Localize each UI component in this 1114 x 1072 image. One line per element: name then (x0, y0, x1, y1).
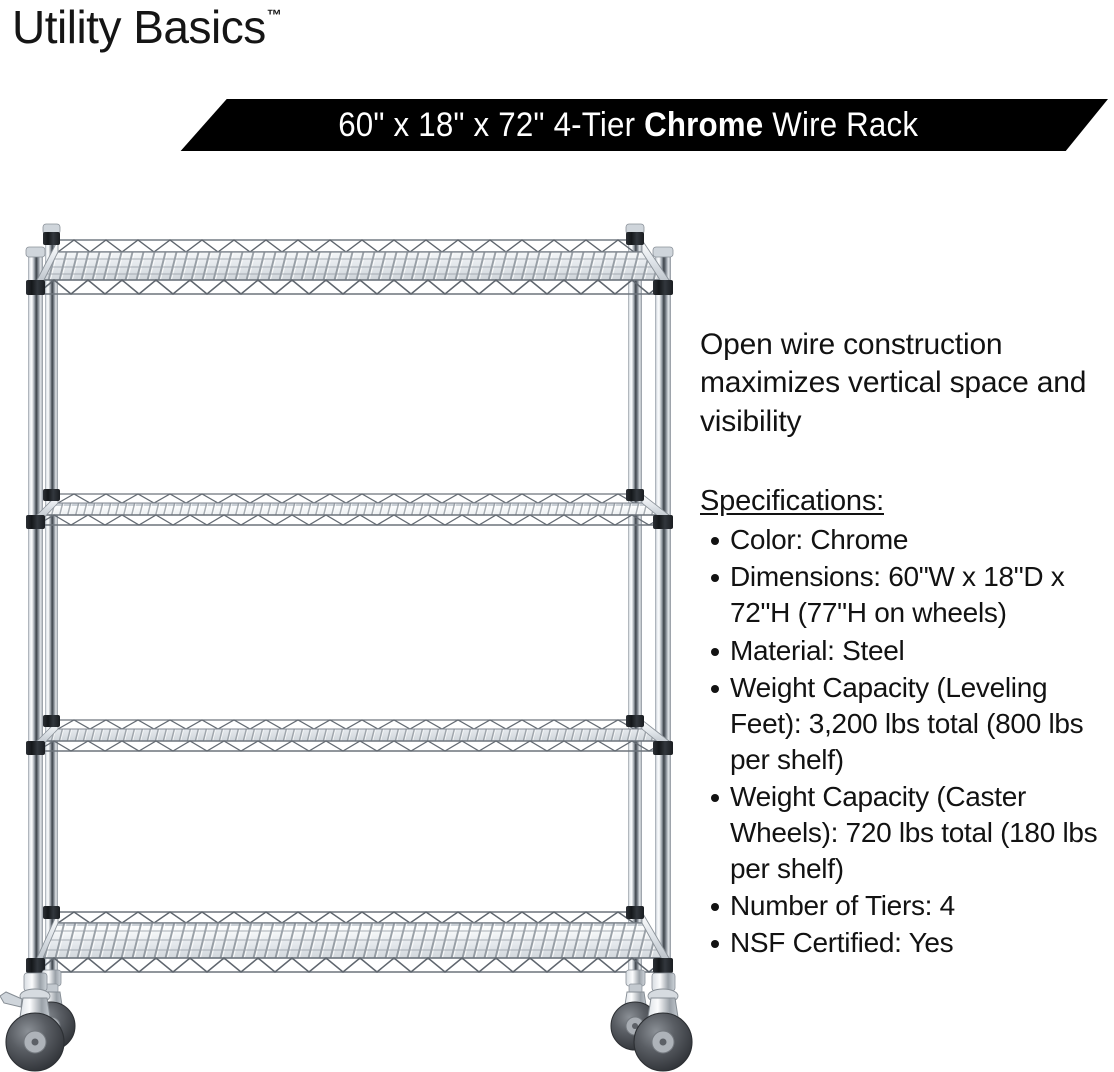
shelf-tier-2 (26, 489, 673, 529)
title-suffix: Wire Rack (763, 106, 918, 144)
shelf-tier-1 (26, 232, 673, 295)
wire-rack-illustration (0, 206, 700, 1072)
spec-item: Number of Tiers: 4 (730, 888, 1108, 924)
title-emphasis: Chrome (644, 106, 763, 144)
trademark-symbol: ™ (267, 8, 283, 23)
rear-posts (43, 224, 644, 970)
specifications-list: Color: Chrome Dimensions: 60"W x 18"D x … (700, 522, 1108, 961)
spec-item: NSF Certified: Yes (730, 925, 1108, 961)
shelf-tier-3 (26, 715, 673, 755)
spec-item: Material: Steel (730, 633, 1108, 669)
caster-front-right (634, 973, 692, 1071)
spec-item: Weight Capacity (Leveling Feet): 3,200 l… (730, 670, 1108, 778)
brand-logo: Utility Basics ™ (12, 4, 282, 50)
spec-item: Weight Capacity (Caster Wheels): 720 lbs… (730, 779, 1108, 887)
headline-text: Open wire construction maximizes vertica… (700, 326, 1108, 441)
spec-item: Dimensions: 60"W x 18"D x 72"H (77"H on … (730, 559, 1108, 631)
spec-item: Color: Chrome (730, 522, 1108, 558)
brand-name: Utility Basics (12, 4, 266, 50)
specifications-heading: Specifications: (700, 485, 884, 518)
title-prefix: 60" x 18" x 72" 4-Tier (338, 106, 644, 144)
front-posts (26, 247, 673, 988)
brake-lever-icon (0, 992, 22, 1007)
title-banner-text: 60" x 18" x 72" 4-Tier Chrome Wire Rack (338, 106, 918, 145)
product-image (0, 206, 700, 1072)
infographic-page: Utility Basics ™ 60" x 18" x 72" 4-Tier … (0, 0, 1114, 1072)
shelf-tier-4 (26, 906, 673, 973)
copy-column: Open wire construction maximizes vertica… (700, 326, 1108, 962)
title-banner: 60" x 18" x 72" 4-Tier Chrome Wire Rack (148, 99, 1108, 151)
